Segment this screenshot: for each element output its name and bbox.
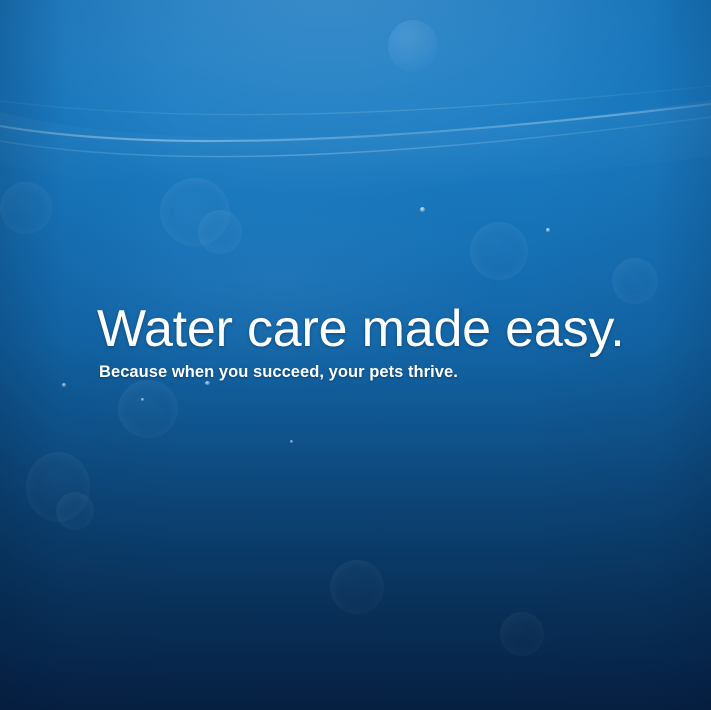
hero-banner: Water care made easy. Because when you s… — [0, 0, 711, 710]
hero-headline: Water care made easy. — [97, 303, 657, 355]
bubble-icon — [388, 20, 438, 72]
hero-copy-block: Water care made easy. Because when you s… — [97, 303, 657, 383]
depth-shadow-overlay — [0, 341, 711, 710]
bubble-icon — [56, 492, 94, 530]
bubble-icon — [160, 178, 230, 246]
bubble-icon — [500, 612, 544, 656]
bubble-speck-icon — [420, 207, 425, 212]
bubble-icon — [330, 560, 384, 614]
bubble-icon — [118, 380, 178, 438]
surface-light-sheen — [0, 0, 711, 327]
bubble-icon — [470, 222, 528, 280]
bubble-speck-icon — [290, 440, 293, 443]
bubble-speck-icon — [546, 228, 550, 232]
bubble-speck-icon — [141, 398, 144, 401]
hero-subheadline: Because when you succeed, your pets thri… — [99, 363, 657, 383]
bubble-icon — [612, 258, 658, 304]
bubble-icon — [26, 452, 90, 522]
bubble-speck-icon — [62, 383, 66, 387]
bubble-icon — [0, 182, 52, 234]
bubble-icon — [198, 210, 242, 254]
